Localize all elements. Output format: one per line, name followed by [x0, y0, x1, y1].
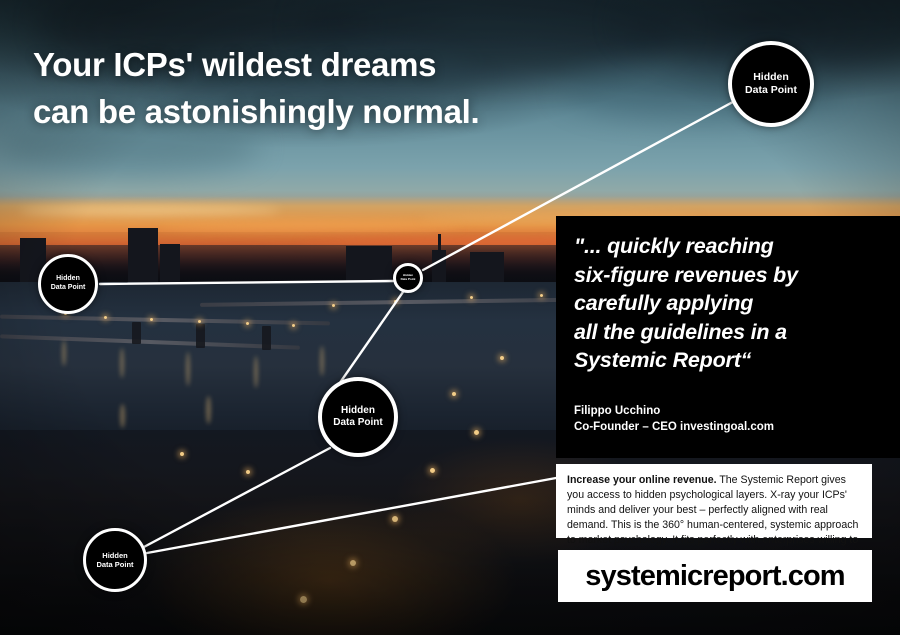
description-lead: Increase your online revenue. [567, 474, 717, 486]
description-panel: Increase your online revenue. The System… [556, 464, 872, 538]
website-url: systemicreport.com [585, 560, 844, 593]
testimonial-quote: "... quickly reaching six-figure revenue… [574, 232, 882, 375]
link-center-to-bottomleft [142, 448, 330, 548]
testimonial-attribution: Filippo Ucchino Co-Founder – CEO investi… [574, 403, 774, 436]
poster-canvas: Your ICPs' wildest dreams can be astonis… [0, 0, 900, 635]
quote-line-3: carefully applying [574, 289, 882, 318]
node-left[interactable]: Hidden Data Point [38, 254, 98, 314]
node-bottom-left[interactable]: Hidden Data Point [83, 528, 147, 592]
quote-line-2: six-figure revenues by [574, 261, 882, 290]
node-label-line-1: Hidden [51, 275, 86, 284]
node-label-line-2: Data Point [96, 560, 133, 569]
author-role: Co-Founder – CEO investingoal.com [574, 419, 774, 436]
node-label-line-2: Data Point [745, 84, 797, 97]
link-hub-to-left [100, 281, 393, 284]
node-center[interactable]: Hidden Data Point [318, 377, 398, 457]
quote-line-4: all the guidelines in a [574, 318, 882, 347]
description-body: The Systemic Report gives you access to … [567, 474, 858, 561]
quote-line-5: Systemic Report“ [574, 346, 882, 375]
author-name: Filippo Ucchino [574, 403, 774, 420]
node-label-line-1: Hidden [96, 551, 133, 560]
node-top-right[interactable]: Hidden Data Point [728, 41, 814, 127]
testimonial-panel: "... quickly reaching six-figure revenue… [556, 216, 900, 458]
node-label-line-2: Data Point [401, 278, 416, 282]
node-label-line-2: Data Point [333, 417, 382, 430]
link-bottomleft-to-panel [147, 478, 556, 553]
node-hub[interactable]: Hidden Data Point [393, 263, 423, 293]
quote-line-1: "... quickly reaching [574, 232, 882, 261]
node-label-line-2: Data Point [51, 284, 86, 293]
node-label-line-1: Hidden [745, 71, 797, 84]
website-url-panel[interactable]: systemicreport.com [558, 550, 872, 602]
link-hub-to-center [337, 292, 403, 387]
node-label-line-1: Hidden [333, 405, 382, 418]
